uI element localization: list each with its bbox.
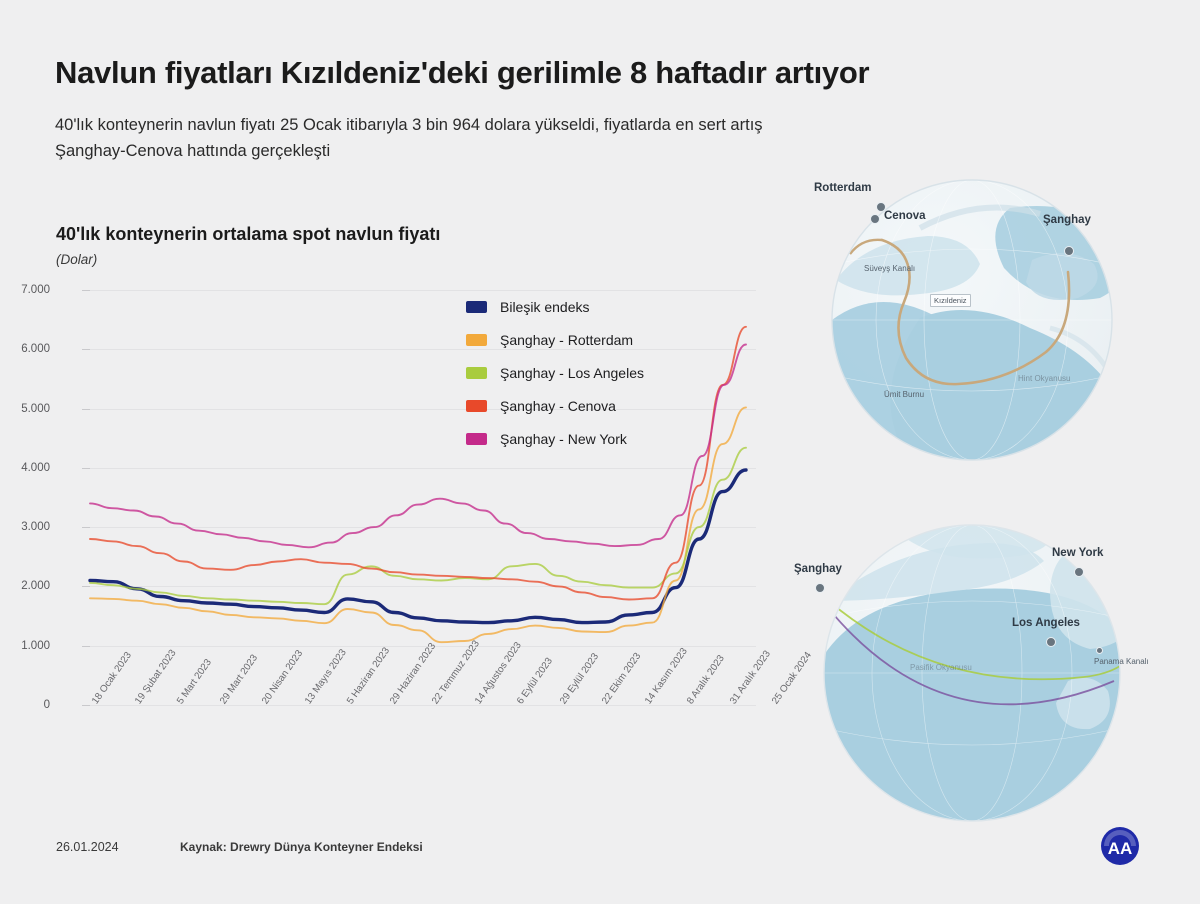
city-dot-losangeles	[1046, 637, 1056, 647]
series-line	[90, 407, 746, 642]
y-tick	[82, 468, 90, 469]
series-line	[90, 470, 746, 623]
publish-date: 26.01.2024	[56, 840, 119, 854]
series-line	[90, 345, 746, 548]
legend-item[interactable]: Şanghay - Cenova	[466, 389, 644, 422]
map-label-indian-ocean: Hint Okyanusu	[1018, 374, 1070, 383]
page-subtitle: 40'lık konteynerin navlun fiyatı 25 Ocak…	[55, 113, 815, 164]
legend-swatch-icon	[466, 433, 487, 445]
chart-unit-label: (Dolar)	[56, 252, 97, 267]
aa-logo: AA	[1092, 822, 1148, 874]
pacific-route-globe: Şanghay New York Los Angeles Panama Kana…	[782, 505, 1162, 825]
chart-series-layer	[90, 290, 790, 705]
legend-item-label: Şanghay - Rotterdam	[500, 332, 633, 348]
map-label-sanghay-pacific: Şanghay	[794, 563, 842, 575]
y-tick	[82, 349, 90, 350]
map-label-panama: Panama Kanalı	[1094, 657, 1149, 666]
map-label-newyork: New York	[1052, 547, 1103, 559]
legend-item[interactable]: Bileşik endeks	[466, 290, 644, 323]
map-label-rotterdam: Rotterdam	[814, 182, 872, 194]
y-tick	[82, 527, 90, 528]
chart-x-axis: 18 Ocak 202319 Şubat 20235 Mart 202329 M…	[90, 700, 770, 790]
legend-item[interactable]: Şanghay - New York	[466, 422, 644, 455]
legend-item-label: Şanghay - New York	[500, 431, 627, 447]
y-axis-label: 4.000	[0, 462, 50, 474]
city-dot-cenova	[870, 214, 880, 224]
legend-item[interactable]: Şanghay - Rotterdam	[466, 323, 644, 356]
y-axis-label: 1.000	[0, 640, 50, 652]
infographic-page: Navlun fiyatları Kızıldeniz'deki gerilim…	[0, 0, 1200, 904]
legend-item-label: Bileşik endeks	[500, 299, 590, 315]
city-dot-panama	[1096, 647, 1103, 654]
map-label-cape: Ümit Burnu	[884, 390, 924, 399]
series-line	[90, 327, 746, 600]
line-chart: 01.0002.0003.0004.0005.0006.0007.000	[56, 290, 756, 705]
y-axis-label: 0	[0, 699, 50, 711]
legend-swatch-icon	[466, 400, 487, 412]
y-axis-label: 3.000	[0, 521, 50, 533]
chart-title: 40'lık konteynerin ortalama spot navlun …	[56, 224, 440, 245]
legend-swatch-icon	[466, 334, 487, 346]
y-tick	[82, 409, 90, 410]
map-label-pacific-ocean: Pasifik Okyanusu	[910, 663, 972, 672]
map-label-red-sea: Kızıldeniz	[930, 294, 971, 307]
y-axis-label: 7.000	[0, 284, 50, 296]
legend-item-label: Şanghay - Los Angeles	[500, 365, 644, 381]
map-label-losangeles: Los Angeles	[1012, 617, 1080, 629]
y-axis-label: 2.000	[0, 580, 50, 592]
y-tick	[82, 646, 90, 647]
map-label-suez: Süveyş Kanalı	[864, 264, 915, 273]
legend-item[interactable]: Şanghay - Los Angeles	[466, 356, 644, 389]
suez-route-globe: Rotterdam Cenova Şanghay Süveyş Kanalı K…	[800, 168, 1140, 468]
map-label-sanghay: Şanghay	[1043, 214, 1091, 226]
chart-legend: Bileşik endeksŞanghay - RotterdamŞanghay…	[466, 290, 644, 455]
legend-swatch-icon	[466, 301, 487, 313]
legend-item-label: Şanghay - Cenova	[500, 398, 616, 414]
y-tick	[82, 586, 90, 587]
series-line	[90, 448, 746, 605]
map-label-cenova: Cenova	[884, 210, 926, 222]
y-tick	[82, 705, 90, 706]
city-dot-newyork	[1074, 567, 1084, 577]
city-dot-sanghay-pacific	[815, 583, 825, 593]
page-title: Navlun fiyatları Kızıldeniz'deki gerilim…	[55, 55, 1145, 91]
city-dot-sanghay	[1064, 246, 1074, 256]
svg-text:AA: AA	[1108, 839, 1133, 858]
y-axis-label: 6.000	[0, 343, 50, 355]
legend-swatch-icon	[466, 367, 487, 379]
y-tick	[82, 290, 90, 291]
source-credit: Kaynak: Drewry Dünya Konteyner Endeksi	[180, 840, 423, 854]
y-axis-label: 5.000	[0, 403, 50, 415]
